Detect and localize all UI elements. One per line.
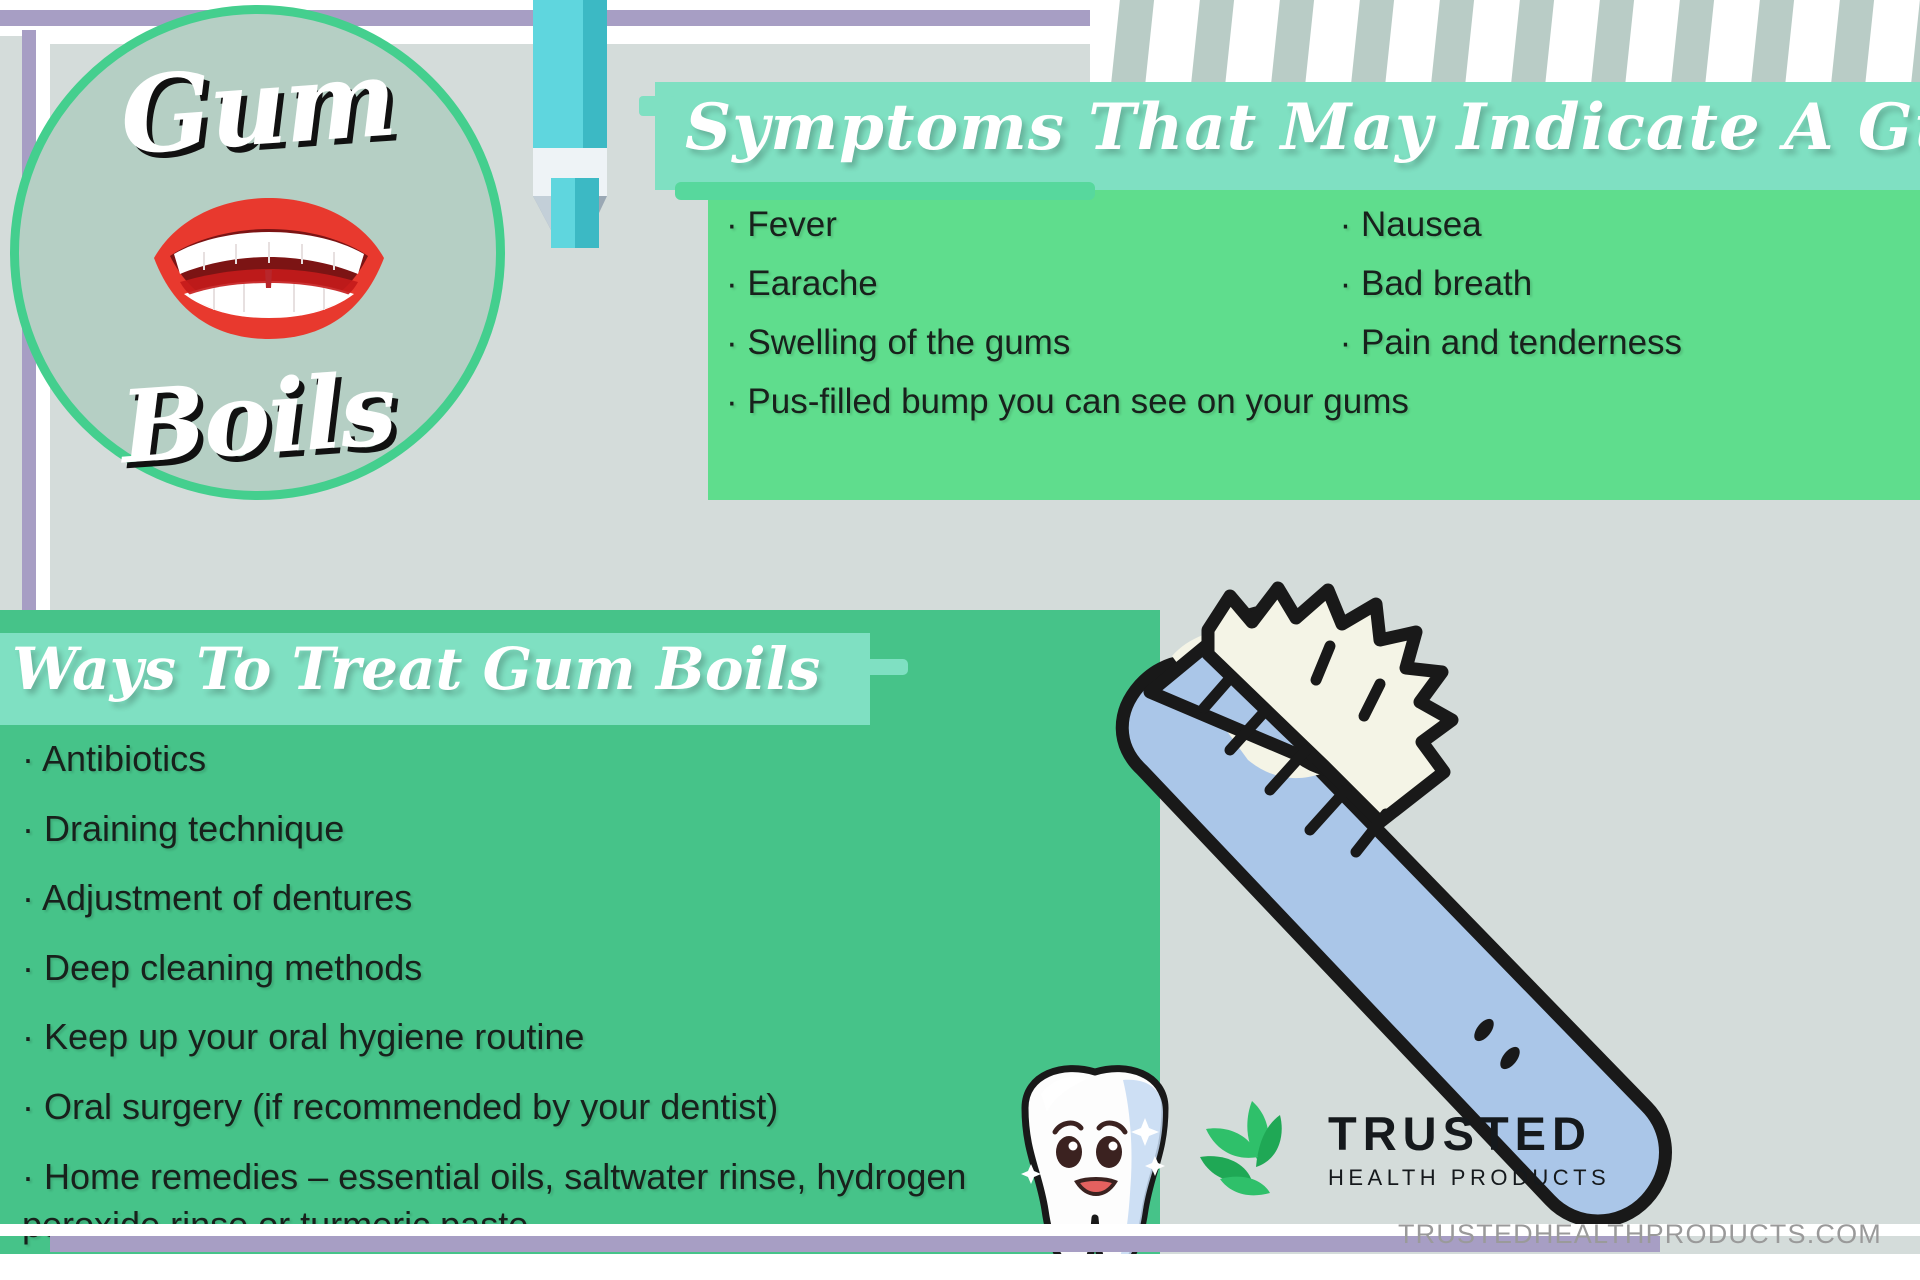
symptoms-list: · Fever · Earache · Swelling of the gums… <box>726 205 1906 422</box>
brand-logo: TRUSTED HEALTH PRODUCTS <box>1190 1095 1610 1205</box>
bullet-marker: · <box>22 877 34 918</box>
treatment-title: Ways To Treat Gum Boils <box>12 635 820 703</box>
bullet-marker: · <box>1340 205 1352 244</box>
list-item-label: Bad breath <box>1361 264 1532 303</box>
bullet-marker: · <box>22 1156 34 1197</box>
bullet-marker: · <box>726 382 738 421</box>
list-item: · Adjustment of dentures <box>22 874 1082 923</box>
symptoms-title-banner: Symptoms That May Indicate A Gum Boil <box>655 82 1920 190</box>
toothpaste-cap-icon <box>525 178 625 248</box>
bullet-marker: · <box>726 264 738 303</box>
open-mouth-icon <box>144 196 394 341</box>
list-item-label: Keep up your oral hygiene routine <box>44 1016 584 1057</box>
list-item-label: Pus-filled bump you can see on your gums <box>747 382 1408 421</box>
footer-website-url[interactable]: TRUSTEDHEALTHPRODUCTS.COM <box>1398 1219 1882 1250</box>
list-item: · Deep cleaning methods <box>22 944 1082 993</box>
list-item: · Earache <box>726 264 1340 304</box>
brand-name: TRUSTED <box>1328 1110 1610 1157</box>
list-item: · Bad breath <box>1340 264 1906 304</box>
gum-boils-logo: Gum Boils <box>10 5 505 500</box>
list-item-label: Swelling of the gums <box>747 323 1070 362</box>
list-item-label: Deep cleaning methods <box>44 947 422 988</box>
bottom-white-margin <box>0 1254 1920 1280</box>
bullet-marker: · <box>1340 323 1352 362</box>
bullet-marker: · <box>22 1016 34 1057</box>
bullet-marker: · <box>22 738 34 779</box>
list-item-label: Oral surgery (if recommended by your den… <box>44 1086 778 1127</box>
treatment-list: · Antibiotics · Draining technique · Adj… <box>22 735 1082 1271</box>
list-item-label: Earache <box>747 264 877 303</box>
list-item-label: Draining technique <box>44 808 344 849</box>
list-item-label: Nausea <box>1361 205 1482 244</box>
bullet-marker: · <box>1340 264 1352 303</box>
list-item-label: Antibiotics <box>42 738 206 779</box>
bullet-marker: · <box>726 205 738 244</box>
list-item-label: Adjustment of dentures <box>42 877 412 918</box>
symptoms-panel: · Fever · Earache · Swelling of the gums… <box>708 175 1920 500</box>
list-item-label: Fever <box>747 205 836 244</box>
bullet-marker: · <box>22 808 34 849</box>
list-item-label: Pain and tenderness <box>1361 323 1682 362</box>
list-item: · Antibiotics <box>22 735 1082 784</box>
symptoms-column-left: · Fever · Earache · Swelling of the gums <box>726 205 1340 382</box>
bullet-marker: · <box>22 1086 34 1127</box>
bullet-marker: · <box>22 947 34 988</box>
treatment-title-banner: Ways To Treat Gum Boils <box>0 633 870 725</box>
bullet-marker: · <box>726 323 738 362</box>
symptoms-column-right: · Nausea · Bad breath · Pain and tendern… <box>1340 205 1906 382</box>
list-item: · Oral surgery (if recommended by your d… <box>22 1083 1082 1132</box>
leaves-icon <box>1190 1095 1310 1205</box>
list-item: · Keep up your oral hygiene routine <box>22 1013 1082 1062</box>
infographic-canvas: Gum Boils · Fever <box>0 0 1920 1280</box>
list-item: · Fever <box>726 205 1340 245</box>
list-item: · Pain and tenderness <box>1340 323 1906 363</box>
list-item: · Draining technique <box>22 805 1082 854</box>
symptoms-title: Symptoms That May Indicate A Gum Boil <box>685 90 1920 165</box>
list-item: · Nausea <box>1340 205 1906 245</box>
brand-tagline: HEALTH PRODUCTS <box>1328 1165 1610 1191</box>
list-item: · Pus-filled bump you can see on your gu… <box>726 382 1906 422</box>
brand-text: TRUSTED HEALTH PRODUCTS <box>1328 1110 1610 1191</box>
list-item: · Swelling of the gums <box>726 323 1340 363</box>
